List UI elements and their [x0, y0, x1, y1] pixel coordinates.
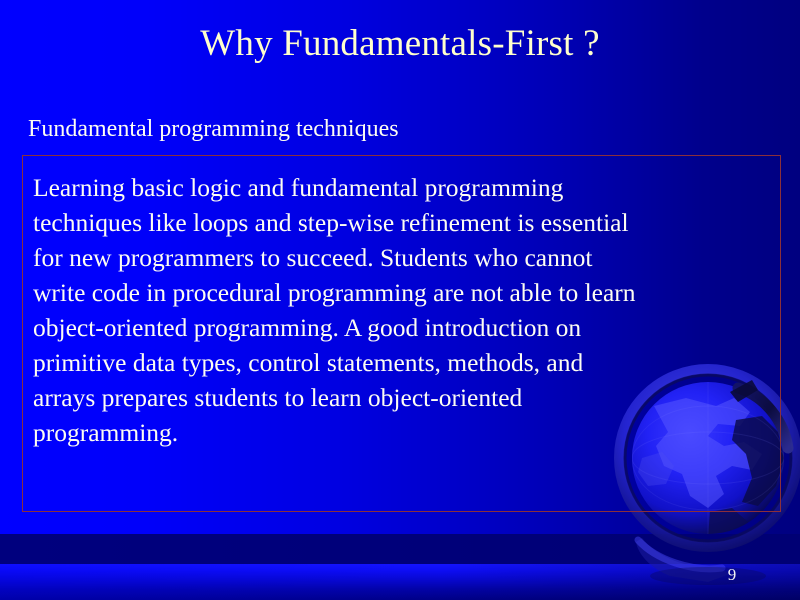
slide-title: Why Fundamentals-First ? — [0, 22, 800, 66]
footer-band-dark — [0, 534, 800, 564]
footer-band-accent — [0, 564, 800, 600]
body-line: arrays prepares students to learn object… — [33, 380, 775, 415]
body-line: techniques like loops and step-wise refi… — [33, 205, 775, 240]
body-line: object-oriented programming. A good intr… — [33, 310, 775, 345]
body-line: Learning basic logic and fundamental pro… — [33, 170, 775, 205]
body-line: write code in procedural programming are… — [33, 275, 775, 310]
body-line: programming. — [33, 415, 775, 450]
body-line: for new programmers to succeed. Students… — [33, 240, 775, 275]
body-line: primitive data types, control statements… — [33, 345, 775, 380]
page-number: 9 — [720, 564, 744, 586]
slide-canvas: Why Fundamentals-First ? Fundamental pro… — [0, 0, 800, 600]
content-textbox-text: Learning basic logic and fundamental pro… — [33, 170, 775, 450]
slide-subtitle: Fundamental programming techniques — [28, 114, 399, 144]
